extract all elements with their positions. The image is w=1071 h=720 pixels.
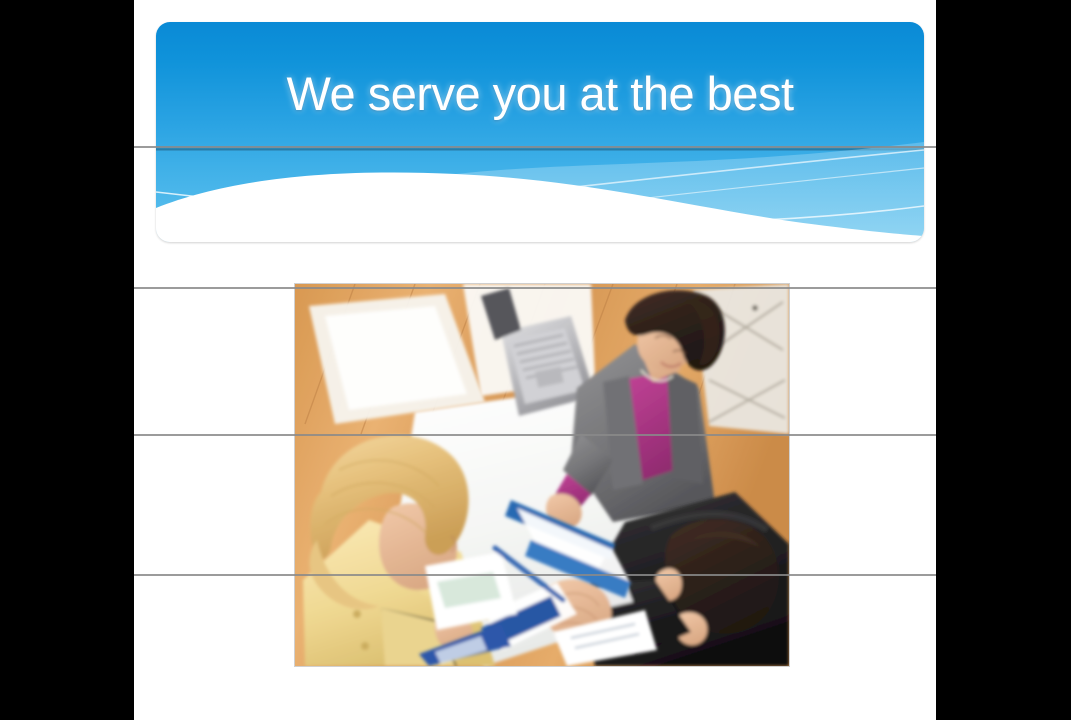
slide-title-banner: We serve you at the best: [156, 22, 924, 242]
wave-decoration-icon: [156, 134, 924, 242]
letterbox-left: [0, 0, 134, 720]
video-frame: We serve you at the best: [0, 0, 1071, 720]
content-photo: [295, 284, 789, 666]
page-title: We serve you at the best: [156, 70, 924, 117]
presentation-slide: We serve you at the best: [134, 0, 936, 720]
letterbox-right: [936, 0, 1071, 720]
